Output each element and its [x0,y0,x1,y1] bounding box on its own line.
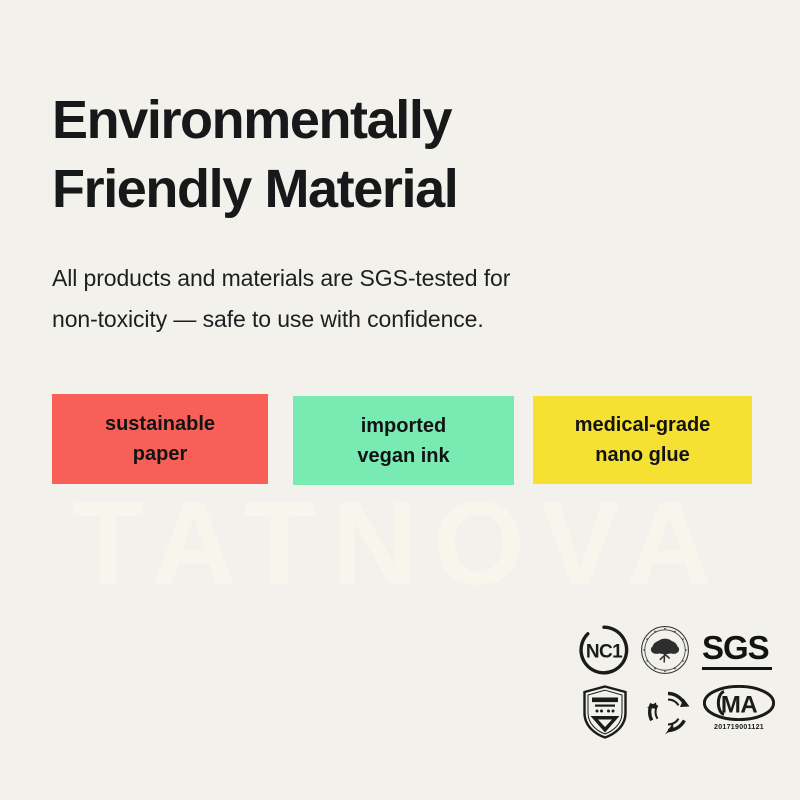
recycle-icon [644,688,692,736]
sgs-icon: SGS [702,630,772,670]
sgs-label: SGS [702,631,772,664]
page-title-line-1: Environmentally [52,86,692,155]
svg-text:NC1: NC1 [586,642,623,663]
cma-icon: MA 201719001121 [703,685,775,739]
page-subtitle-line-2: non-toxicity — safe to use with confiden… [52,299,672,340]
svg-text:MA: MA [721,692,757,719]
certification-row-top: NC1 [578,622,774,678]
sgs-underline [702,667,772,670]
nc1-icon: NC1 [578,624,630,676]
shield-icon [582,685,628,739]
material-tag-line-2: paper [133,439,187,469]
material-tag-line-2: vegan ink [357,441,449,471]
material-tag-line-1: sustainable [105,409,215,439]
material-tag-line-2: nano glue [595,440,689,470]
certification-badge-group: NC1 [578,622,774,748]
material-tag-line-1: imported [361,411,447,441]
brand-watermark: TATNOVA [0,484,800,604]
material-tag-line-1: medical-grade [575,410,711,440]
forest-tree-seal-icon [639,624,691,676]
page-subtitle-line-1: All products and materials are SGS-teste… [52,258,672,299]
material-tag-group: sustainable paper imported vegan ink med… [52,394,752,494]
material-tag-sustainable-paper: sustainable paper [52,394,268,484]
material-tag-medical-grade-nano-glue: medical-grade nano glue [533,396,752,484]
page-title: Environmentally Friendly Material [52,86,692,224]
watermark-text: TATNOVA [72,476,728,612]
certification-row-bottom: MA 201719001121 [578,684,774,740]
poster-canvas: TATNOVA Environmentally Friendly Materia… [0,0,800,800]
material-tag-imported-vegan-ink: imported vegan ink [293,396,514,485]
page-title-line-2: Friendly Material [52,155,692,224]
cma-code-label: 201719001121 [714,724,764,731]
page-subtitle: All products and materials are SGS-teste… [52,258,672,340]
